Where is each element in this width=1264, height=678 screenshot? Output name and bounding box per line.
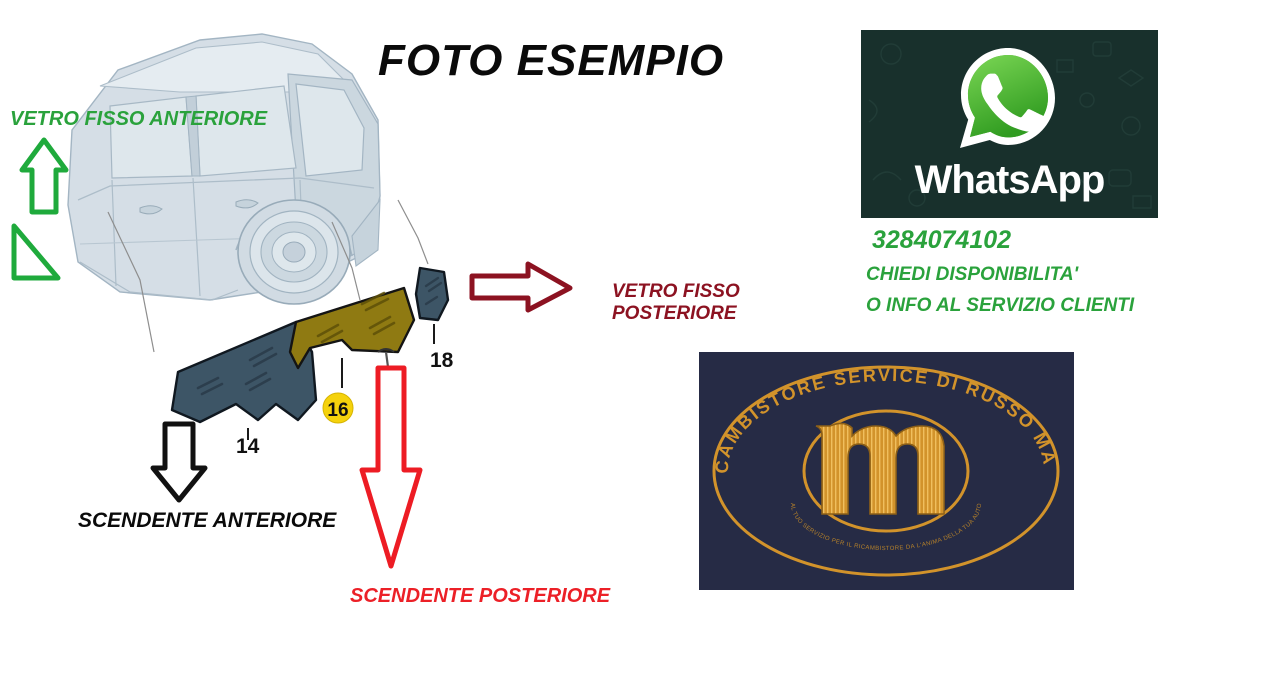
whatsapp-banner: WhatsApp [861, 30, 1158, 218]
green-up-arrow-icon [22, 140, 66, 212]
part-number-18: 18 [430, 349, 454, 372]
green-triangle-arrow-icon [14, 226, 58, 278]
label-vetro-fisso-anteriore: VETRO FISSO ANTERIORE [10, 108, 267, 131]
page-title: FOTO ESEMPIO [378, 36, 724, 87]
logo-monogram [816, 423, 944, 514]
part-number-16: 16 [327, 400, 348, 421]
whatsapp-phone-icon [954, 44, 1066, 156]
phone-number: 3284074102 [872, 226, 1011, 255]
label-scendente-posteriore: SCENDENTE POSTERIORE [350, 585, 610, 608]
black-down-arrow-icon [153, 424, 205, 500]
red-down-arrow-icon [362, 368, 420, 566]
car-illustration [68, 34, 380, 304]
whatsapp-wordmark: WhatsApp [861, 158, 1158, 203]
parts-diagram: 14 16 17 18 [0, 0, 700, 640]
label-vetro-fisso-posteriore: VETRO FISSO POSTERIORE [612, 281, 740, 325]
label-scendente-anteriore: SCENDENTE ANTERIORE [78, 509, 336, 533]
contact-line-1: CHIEDI DISPONIBILITA' [866, 264, 1078, 286]
part-number-14: 14 [236, 435, 260, 458]
contact-line-2: O INFO AL SERVIZIO CLIENTI [866, 295, 1134, 317]
dark-red-right-arrow-icon [472, 264, 570, 310]
shop-logo: MRICAMBISTORE SERVICE DI RUSSO MARCO AL … [699, 352, 1074, 590]
part-18-glass [416, 268, 448, 344]
